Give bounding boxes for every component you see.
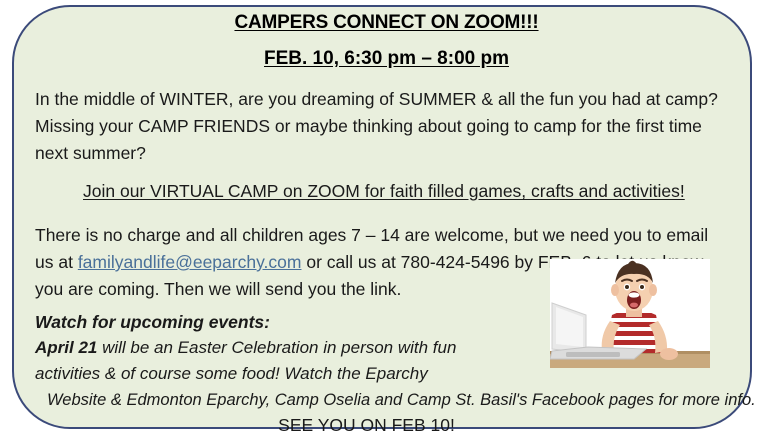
details-line-2-prefix: us at (35, 252, 78, 272)
spacer-1 (35, 167, 738, 178)
flyer-subtitle-text: FEB. 10, 6:30 pm – 8:00 pm (264, 48, 509, 69)
events-line-3: Website & Edmonton Eparchy, Camp Oselia … (35, 387, 738, 413)
boy-at-laptop-photo (550, 259, 710, 368)
email-link[interactable]: familyandlife@eeparchy.com (78, 252, 302, 272)
intro-paragraph: In the middle of WINTER, are you dreamin… (35, 86, 738, 167)
flyer-title: CAMPERS CONNECT ON ZOOM!!! (35, 12, 738, 34)
boy-at-laptop-illustration (550, 259, 710, 368)
events-date: April 21 (35, 338, 97, 357)
intro-line-1: In the middle of WINTER, are you dreamin… (35, 86, 738, 113)
flyer-title-text: CAMPERS CONNECT ON ZOOM!!! (234, 12, 538, 33)
flyer-container: CAMPERS CONNECT ON ZOOM!!! FEB. 10, 6:30… (0, 0, 768, 428)
flyer-subtitle: FEB. 10, 6:30 pm – 8:00 pm (35, 48, 738, 70)
events-line-1-rest: will be an Easter Celebration in person … (97, 338, 456, 357)
intro-line-2: Missing your CAMP FRIENDS or maybe think… (35, 113, 738, 140)
call-to-action-line: Join our VIRTUAL CAMP on ZOOM for faith … (35, 178, 738, 205)
closing-line: SEE YOU ON FEB 10! (35, 413, 738, 437)
details-line-1: There is no charge and all children ages… (35, 222, 738, 249)
call-to-action-text: Join our VIRTUAL CAMP on ZOOM for faith … (83, 181, 685, 201)
spacer-2 (35, 205, 738, 216)
intro-line-3: next summer? (35, 140, 738, 167)
